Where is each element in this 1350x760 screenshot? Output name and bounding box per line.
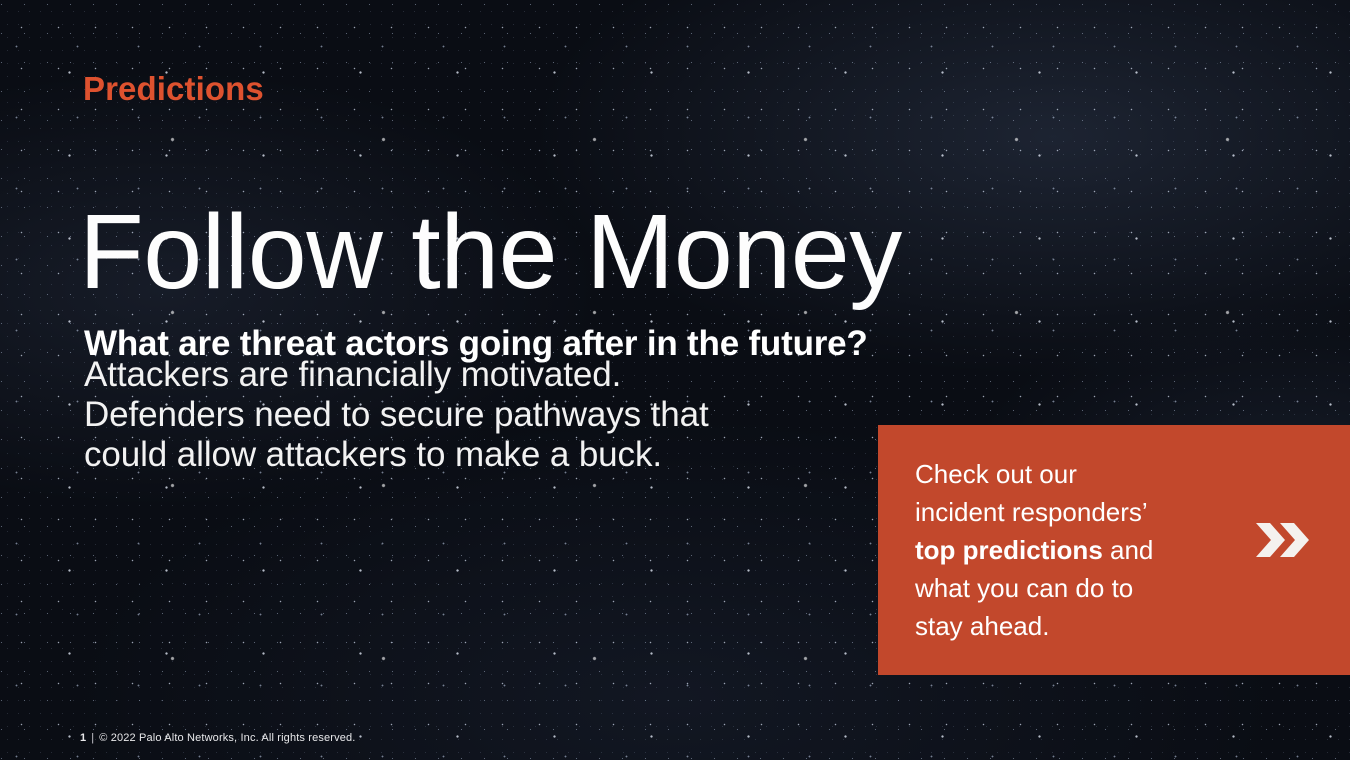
page-number: 1 [80, 732, 86, 744]
footer-separator: | [91, 732, 94, 744]
callout-line-3-rest: and [1103, 535, 1154, 565]
callout-line-3: top predictions and [915, 531, 1194, 569]
callout-text: Check out our incident responders’ top p… [878, 455, 1198, 645]
slide-footer: 1 | © 2022 Palo Alto Networks, Inc. All … [80, 732, 355, 744]
slide-title: Follow the Money [79, 197, 902, 308]
body-line-1: Attackers are financially motivated. [84, 355, 844, 395]
callout-line-5: stay ahead. [915, 607, 1194, 645]
double-chevron-right-icon[interactable] [1252, 518, 1314, 562]
slide-content: Predictions Follow the Money What are th… [0, 0, 1350, 760]
callout-line-2: incident responders’ [915, 493, 1194, 531]
presentation-slide: Predictions Follow the Money What are th… [0, 0, 1350, 760]
body-line-2: Defenders need to secure pathways that [84, 395, 844, 435]
callout-emphasis: top predictions [915, 535, 1103, 565]
slide-body-copy: Attackers are financially motivated. Def… [84, 355, 844, 475]
callout-line-1: Check out our [915, 455, 1194, 493]
copyright-notice: © 2022 Palo Alto Networks, Inc. All righ… [99, 732, 355, 744]
callout-line-4: what you can do to [915, 569, 1194, 607]
body-line-3: could allow attackers to make a buck. [84, 435, 844, 475]
slide-eyebrow-label: Predictions [83, 71, 264, 108]
